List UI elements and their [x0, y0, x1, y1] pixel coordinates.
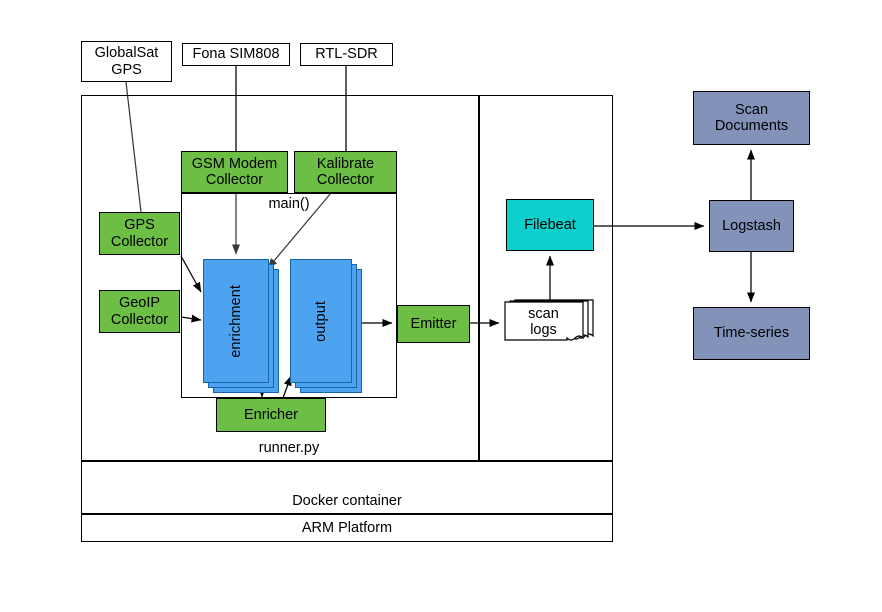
collector-geoip[interactable]: GeoIP Collector: [99, 290, 180, 333]
diagram-canvas: ARM Platform Docker container runner.py …: [0, 0, 882, 612]
store-time-series[interactable]: Time-series: [693, 307, 810, 360]
stack-output[interactable]: output: [290, 259, 352, 383]
hardware-fona-sim808[interactable]: Fona SIM808: [182, 43, 290, 66]
container-filebeat-zone: [479, 95, 613, 461]
store-scan-documents[interactable]: Scan Documents: [693, 91, 810, 145]
container-arm-platform-label: ARM Platform: [81, 520, 613, 536]
hardware-rtl-sdr[interactable]: RTL-SDR: [300, 43, 393, 66]
collector-kalibrate[interactable]: Kalibrate Collector: [294, 151, 397, 193]
container-main-fn-label: main(): [236, 196, 342, 212]
hardware-globalsat-gps[interactable]: GlobalSat GPS: [81, 41, 172, 82]
processor-emitter[interactable]: Emitter: [397, 305, 470, 343]
stack-enrichment-label: enrichment: [203, 259, 269, 383]
artifact-scan-logs[interactable]: scan logs: [503, 298, 596, 346]
collector-gps[interactable]: GPS Collector: [99, 212, 180, 255]
stack-enrichment[interactable]: enrichment: [203, 259, 269, 383]
shipper-logstash[interactable]: Logstash: [709, 200, 794, 252]
container-docker-label: Docker container: [81, 493, 613, 509]
collector-gsm-modem[interactable]: GSM Modem Collector: [181, 151, 288, 193]
artifact-scan-logs-label: scan logs: [503, 298, 596, 346]
shipper-filebeat[interactable]: Filebeat: [506, 199, 594, 251]
container-runner-py-label: runner.py: [181, 440, 397, 456]
stack-output-label: output: [290, 259, 352, 383]
processor-enricher[interactable]: Enricher: [216, 398, 326, 432]
